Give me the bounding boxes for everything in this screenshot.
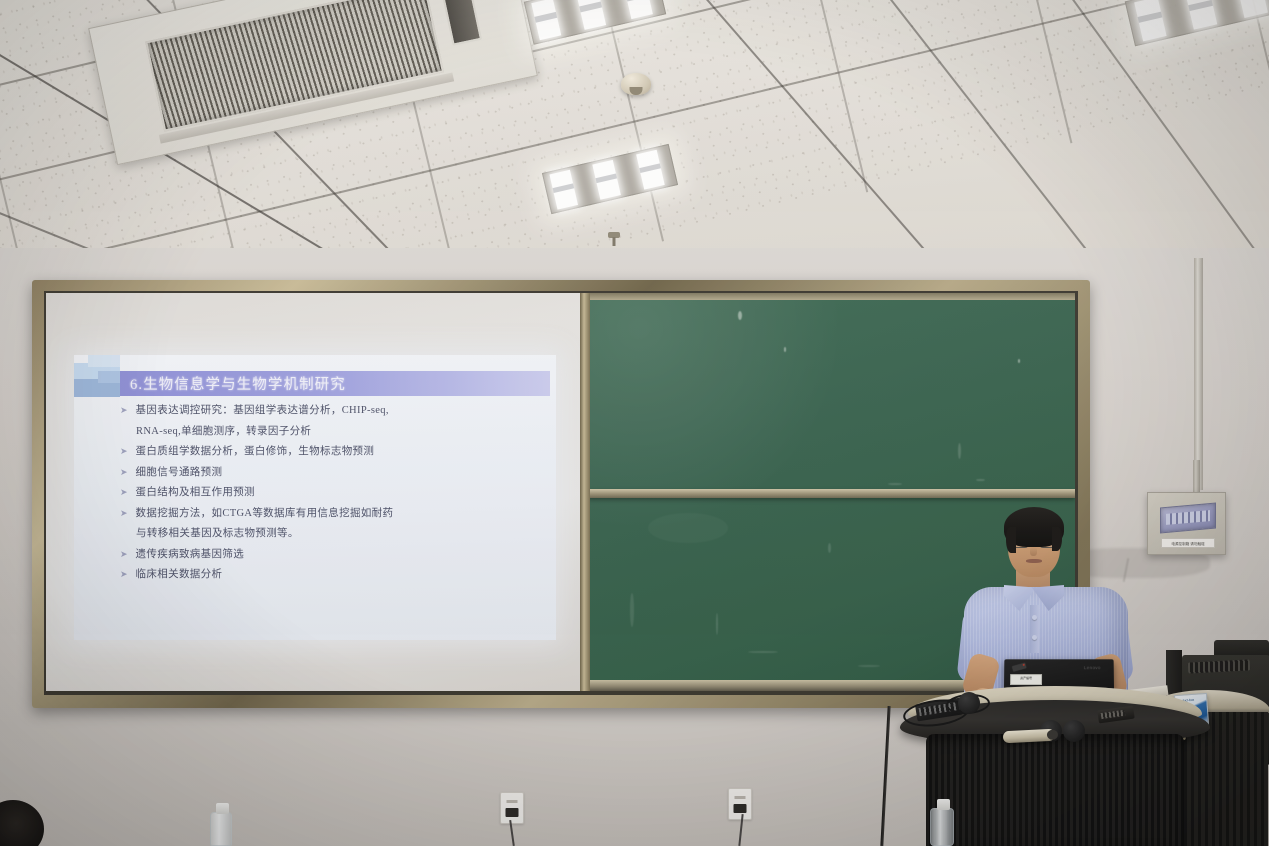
slide-bullet-text: 蛋白质组学数据分析，蛋白修饰，生物标志物预测 xyxy=(136,444,375,459)
bottle-cap xyxy=(937,799,950,810)
projection-screen: 6.生物信息学与生物学机制研究 ➤ 基因表达调控研究：基因组学表达谱分析，CHI… xyxy=(46,293,580,691)
ac-side-vent-icon xyxy=(438,0,482,46)
wall-vertical-rail xyxy=(1194,258,1203,490)
presenter-nose xyxy=(1030,547,1037,556)
slide-bullet-item: ➤ 蛋白质组学数据分析，蛋白修饰，生物标志物预测 xyxy=(120,444,550,459)
bullet-arrow-icon: ➤ xyxy=(120,485,128,500)
bullet-arrow-icon: ➤ xyxy=(120,403,128,418)
headset-earcup[interactable] xyxy=(1063,720,1085,742)
slide-deco-block xyxy=(88,355,120,367)
slide-bullet-item: ➤ 遗传疾病致病基因筛选 xyxy=(120,547,550,562)
slide-bullet-text: 与转移相关基因及标志物预测等。 xyxy=(136,526,299,541)
slide-bullet-text: RNA-seq,单细胞测序，转录因子分析 xyxy=(136,424,311,439)
chalkboard-divider-ledge xyxy=(588,489,1075,498)
presenter-mouth xyxy=(1026,559,1042,563)
board-assembly: 6.生物信息学与生物学机制研究 ➤ 基因表达调控研究：基因组学表达谱分析，CHI… xyxy=(32,280,1090,708)
slide-bullet-text: 数据挖掘方法，如CTGA等数据库有用信息挖掘如耐药 xyxy=(136,506,394,521)
presenter-hair xyxy=(1004,507,1064,547)
lecture-hall-photo: 6.生物信息学与生物学机制研究 ➤ 基因表达调控研究：基因组学表达谱分析，CHI… xyxy=(0,0,1269,846)
slide-bullet-list: ➤ 基因表达调控研究：基因组学表达谱分析，CHIP-seq, RNA-seq,单… xyxy=(120,403,550,588)
slide-bullet-item: ➤ 临床相关数据分析 xyxy=(120,567,550,582)
slide-bullet-continuation: RNA-seq,单细胞测序，转录因子分析 xyxy=(136,424,550,439)
panel-conduit xyxy=(1193,460,1200,494)
laptop-brand-text: Lenovo xyxy=(1084,665,1108,671)
slide-bullet-text: 基因表达调控研究：基因组学表达谱分析，CHIP-seq, xyxy=(136,403,389,418)
slide-deco-block xyxy=(98,371,122,383)
breaker-window-icon xyxy=(1160,503,1216,534)
chalkboard-top-rail xyxy=(588,293,1075,300)
shirt-placket xyxy=(1030,605,1039,653)
slide-bullet-continuation: 与转移相关基因及标志物预测等。 xyxy=(136,526,550,541)
rack-vent-icon xyxy=(1188,659,1250,673)
slide-bullet-text: 临床相关数据分析 xyxy=(136,567,223,582)
slide-bullet-text: 遗传疾病致病基因筛选 xyxy=(136,547,245,562)
slide-title: 6.生物信息学与生物学机制研究 xyxy=(130,373,346,394)
bullet-arrow-icon: ➤ xyxy=(120,444,128,459)
wall-power-outlet[interactable] xyxy=(500,792,524,824)
bullet-arrow-icon: ➤ xyxy=(120,547,128,562)
slide-bullet-text: 蛋白结构及相互作用预测 xyxy=(136,485,255,500)
water-bottle[interactable] xyxy=(930,808,954,846)
sprinkler-head-icon xyxy=(608,232,620,238)
slide-bullet-text: 细胞信号通路预测 xyxy=(136,465,223,480)
projected-slide: 6.生物信息学与生物学机制研究 ➤ 基因表达调控研究：基因组学表达谱分析，CHI… xyxy=(74,355,556,640)
ceiling xyxy=(0,0,1269,270)
slide-title-bar: 6.生物信息学与生物学机制研究 xyxy=(120,371,550,396)
slide-bullet-item: ➤ 蛋白结构及相互作用预测 xyxy=(120,485,550,500)
bullet-arrow-icon: ➤ xyxy=(120,465,128,480)
slide-bullet-item: ➤ 数据挖掘方法，如CTGA等数据库有用信息挖掘如耐药 xyxy=(120,506,550,521)
chalkboard-sheen xyxy=(588,293,851,540)
thinkpad-logo-icon xyxy=(1012,662,1027,671)
slide-bullet-item: ➤ 细胞信号通路预测 xyxy=(120,465,550,480)
laptop-asset-label: 资产编号 xyxy=(1010,674,1042,685)
board-center-mullion xyxy=(580,293,590,691)
wall-power-outlet[interactable] xyxy=(728,788,752,820)
bottle-cap xyxy=(216,803,229,814)
smoke-detector-icon xyxy=(621,73,651,95)
headset-earcup[interactable] xyxy=(958,692,980,714)
electrical-panel-box[interactable]: 电源控制箱 请勿触碰 xyxy=(1147,492,1226,555)
panel-label: 电源控制箱 请勿触碰 xyxy=(1161,538,1215,548)
lectern-body xyxy=(926,734,1184,846)
water-bottle[interactable] xyxy=(210,812,232,846)
bullet-arrow-icon: ➤ xyxy=(120,567,128,582)
bullet-arrow-icon: ➤ xyxy=(120,506,128,521)
slide-bullet-item: ➤ 基因表达调控研究：基因组学表达谱分析，CHIP-seq, xyxy=(120,403,550,418)
